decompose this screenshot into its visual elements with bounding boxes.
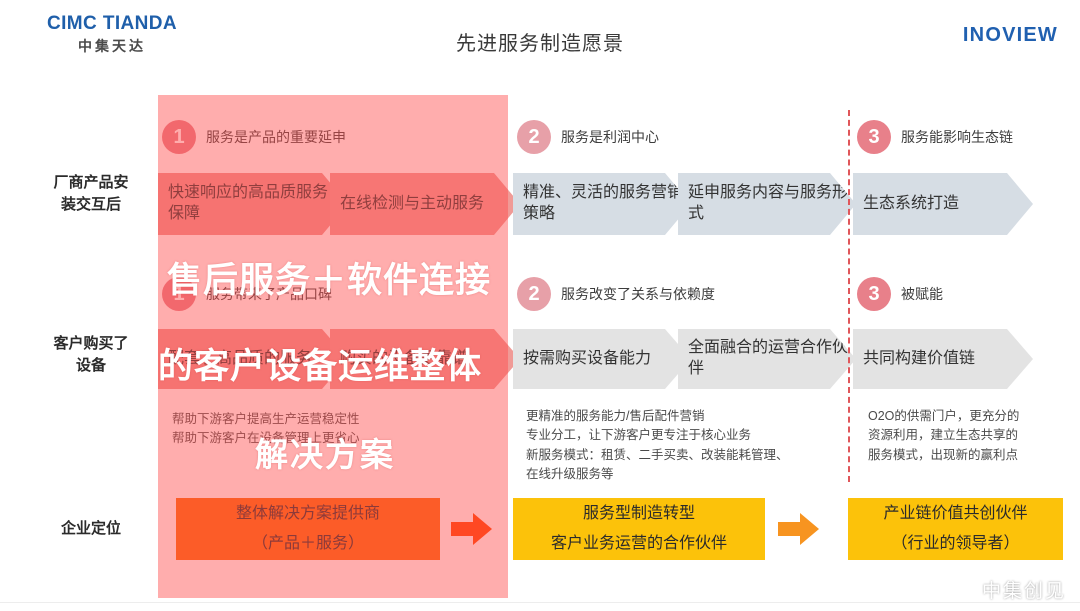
positioning-box-2-line1: 服务型制造转型 <box>583 499 695 529</box>
chevron-r1c3: 生态系统打造 <box>853 173 1033 235</box>
chevron-r2c3: 共同构建价值链 <box>853 329 1033 389</box>
stage-header-r2c3: 3 被赋能 <box>857 277 943 311</box>
bottom-edge <box>0 602 1080 611</box>
stage-header-r1c2: 2 服务是利润中心 <box>517 120 659 154</box>
row-label-manufacturer: 厂商产品安 装交互后 <box>28 172 154 216</box>
stage-badge-r2c2: 2 <box>517 277 551 311</box>
notes-col3-line1: O2O的供需门户，更充分的 <box>868 407 1068 426</box>
notes-col1-line1: 帮助下游客户提高生产运营稳定性 <box>172 410 502 429</box>
wechat-bubble-icon <box>945 578 975 602</box>
chevron-r2c2b: 全面融合的运营合作伙伴 <box>678 329 856 389</box>
positioning-box-2: 服务型制造转型 客户业务运营的合作伙伴 <box>513 498 765 560</box>
stage-badge-r1c2: 2 <box>517 120 551 154</box>
notes-col2-line4: 在线升级服务等 <box>526 465 856 484</box>
page-title: 先进服务制造愿景 <box>0 27 1080 56</box>
wechat-watermark: 中集创见 <box>945 576 1066 603</box>
positioning-box-1-line1: 整体解决方案提供商 <box>236 499 380 529</box>
stage-header-r2c2: 2 服务改变了关系与依赖度 <box>517 277 715 311</box>
notes-col2-line1: 更精准的服务能力/售后配件营销 <box>526 407 856 426</box>
stage-title-r2c2: 服务改变了关系与依赖度 <box>561 284 715 304</box>
stage-title-r1c3: 服务能影响生态链 <box>901 127 1013 147</box>
positioning-box-1-line2: （产品＋服务） <box>252 529 364 559</box>
positioning-box-3-line1: 产业链价值共创伙伴 <box>883 499 1027 529</box>
chevron-r1c1a: 快速响应的高品质服务保障 <box>158 173 348 235</box>
overlay-headline-line3: 解决方案 <box>255 428 395 476</box>
stage-header-r1c3: 3 服务能影响生态链 <box>857 120 1013 154</box>
chevron-r1c2a: 精准、灵活的服务营销策略 <box>513 173 691 235</box>
flow-arrow-2 <box>778 512 820 546</box>
overlay-headline-line1: 售后服务＋软件连接 <box>167 252 491 303</box>
watermark-label: 中集创见 <box>982 576 1066 603</box>
stage-badge-r1c1: 1 <box>162 120 196 154</box>
flow-arrow-1 <box>451 512 493 546</box>
positioning-box-1: 整体解决方案提供商 （产品＋服务） <box>176 498 440 560</box>
stage-title-r1c2: 服务是利润中心 <box>561 127 659 147</box>
row-label-positioning: 企业定位 <box>28 518 154 540</box>
inoview-logo: INOVIEW <box>963 24 1058 47</box>
notes-col2-line2: 专业分工，让下游客户更专注于核心业务 <box>526 426 856 445</box>
notes-col2-line3: 新服务模式：租赁、二手买卖、改装能耗管理、 <box>526 446 856 465</box>
notes-col3-line2: 资源利用，建立生态共享的 <box>868 426 1068 445</box>
positioning-box-3: 产业链价值共创伙伴 （行业的领导者） <box>848 498 1063 560</box>
stage-badge-r2c3: 3 <box>857 277 891 311</box>
notes-col3-line3: 服务模式，出现新的赢利点 <box>868 446 1068 465</box>
overlay-headline-line2: 的客户设备运维整体 <box>158 338 482 389</box>
stage-badge-r1c3: 3 <box>857 120 891 154</box>
chevron-r1c2b: 延申服务内容与服务形式 <box>678 173 856 235</box>
stage-title-r2c3: 被赋能 <box>901 284 943 304</box>
chevron-r1c1b: 在线检测与主动服务 <box>330 173 520 235</box>
stage-header-r1c1: 1 服务是产品的重要延申 <box>162 120 346 154</box>
positioning-box-2-line2: 客户业务运营的合作伙伴 <box>551 529 727 559</box>
notes-col2: 更精准的服务能力/售后配件营销 专业分工，让下游客户更专注于核心业务 新服务模式… <box>526 407 856 485</box>
section-divider <box>848 110 850 482</box>
slide-canvas: CIMC TIANDA 中集天达 先进服务制造愿景 INOVIEW 厂商产品安 … <box>0 0 1080 611</box>
row-label-customer: 客户购买了 设备 <box>28 333 154 377</box>
positioning-box-3-line2: （行业的领导者） <box>891 529 1019 559</box>
chevron-r2c2a: 按需购买设备能力 <box>513 329 691 389</box>
stage-title-r1c1: 服务是产品的重要延申 <box>206 127 346 147</box>
notes-col3: O2O的供需门户，更充分的 资源利用，建立生态共享的 服务模式，出现新的赢利点 <box>868 407 1068 465</box>
